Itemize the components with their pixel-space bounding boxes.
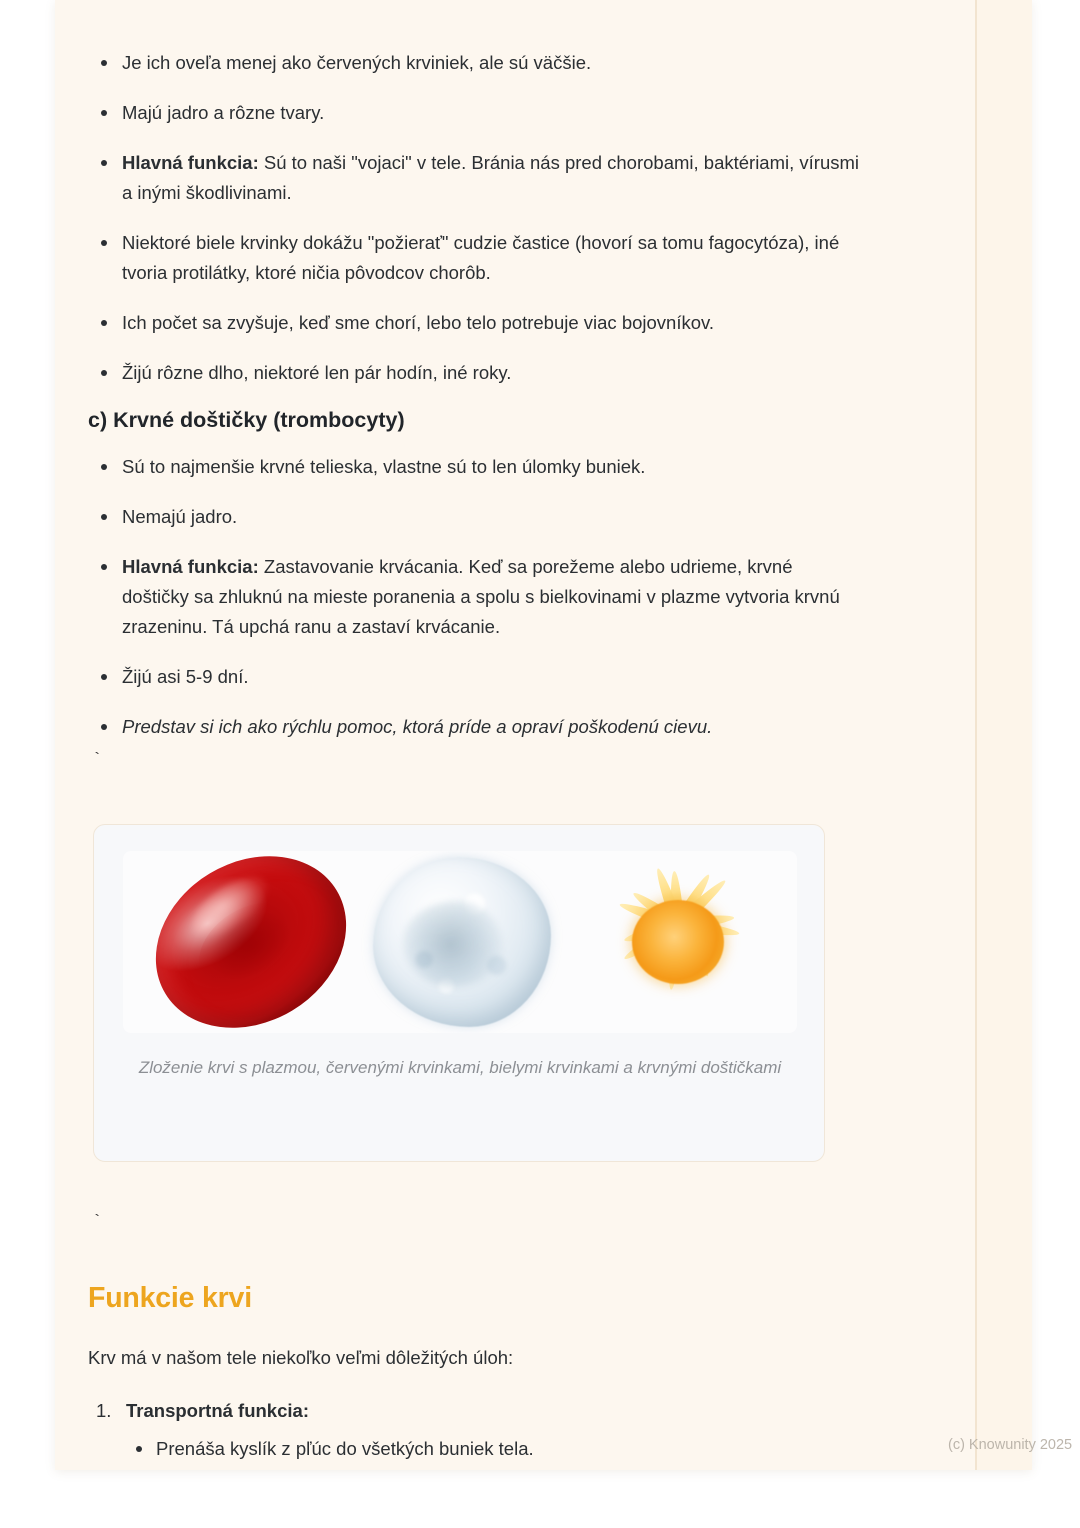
list-item-text: Žijú rôzne dlho, niektoré len pár hodín,… bbox=[122, 362, 511, 383]
document-content-column: Je ich oveľa menej ako červených krvinie… bbox=[88, 0, 938, 1470]
platelets-section-heading: c) Krvné doštičky (trombocyty) bbox=[88, 405, 938, 435]
list-item-text: Ich počet sa zvyšuje, keď sme chorí, leb… bbox=[122, 312, 714, 333]
list-item: Je ich oveľa menej ako červených krvinie… bbox=[88, 48, 862, 78]
list-item: Hlavná funkcia: Zastavovanie krvácania. … bbox=[88, 552, 862, 642]
stray-backtick-mark-top: ` bbox=[92, 752, 942, 769]
functions-section-intro: Krv má v našom tele niekoľko veľmi dôlež… bbox=[88, 1343, 938, 1373]
list-item: Žijú rôzne dlho, niektoré len pár hodín,… bbox=[88, 358, 862, 388]
list-item-bold-lead: Hlavná funkcia: bbox=[122, 152, 259, 173]
list-item: Ich počet sa zvyšuje, keď sme chorí, leb… bbox=[88, 308, 862, 338]
platelets-bullet-list: Sú to najmenšie krvné telieska, vlastne … bbox=[88, 452, 938, 762]
numbered-list-item: Transportná funkcia: Prenáša kyslík z pľ… bbox=[88, 1396, 938, 1464]
platelet-core bbox=[632, 900, 724, 984]
functions-section-heading: Funkcie krvi bbox=[88, 1280, 938, 1317]
stray-backtick-mark-bottom: ` bbox=[92, 1214, 942, 1231]
white-blood-cells-bullet-list: Je ich oveľa menej ako červených krvinie… bbox=[88, 48, 938, 408]
list-item: Majú jadro a rôzne tvary. bbox=[88, 98, 862, 128]
list-item: Žijú asi 5-9 dní. bbox=[88, 662, 862, 692]
platelet-icon bbox=[583, 857, 773, 1027]
page-margin-divider-line bbox=[975, 0, 977, 1470]
white-blood-cell-nucleus bbox=[403, 901, 503, 987]
page-right-margin-strip bbox=[975, 0, 1032, 1470]
list-item-bold-lead: Hlavná funkcia: bbox=[122, 556, 259, 577]
functions-numbered-list: Transportná funkcia: Prenáša kyslík z pľ… bbox=[88, 1396, 938, 1464]
list-item: Sú to najmenšie krvné telieska, vlastne … bbox=[88, 452, 862, 482]
document-page: Je ich oveľa menej ako červených krvinie… bbox=[55, 0, 1032, 1470]
list-item-text: Sú to najmenšie krvné telieska, vlastne … bbox=[122, 456, 645, 477]
blood-cells-image bbox=[123, 851, 797, 1033]
bullet-list: Sú to najmenšie krvné telieska, vlastne … bbox=[88, 452, 938, 742]
numbered-item-title: Transportná funkcia: bbox=[126, 1400, 309, 1421]
blood-cells-figure-card: Zloženie krvi s plazmou, červenými krvin… bbox=[93, 824, 825, 1162]
copyright-watermark: (c) Knowunity 2025 bbox=[948, 1437, 1072, 1453]
figure-caption: Zloženie krvi s plazmou, červenými krvin… bbox=[138, 1055, 782, 1081]
numbered-list: Transportná funkcia: Prenáša kyslík z pľ… bbox=[88, 1396, 938, 1464]
list-item: Prenáša kyslík z pľúc do všetkých buniek… bbox=[126, 1434, 938, 1464]
list-item-text: Je ich oveľa menej ako červených krvinie… bbox=[122, 52, 591, 73]
list-item-text: Predstav si ich ako rýchlu pomoc, ktorá … bbox=[122, 716, 712, 737]
white-blood-cell-icon bbox=[373, 857, 551, 1027]
list-item: Nemajú jadro. bbox=[88, 502, 862, 532]
list-item-text: Majú jadro a rôzne tvary. bbox=[122, 102, 324, 123]
list-item-text: Prenáša kyslík z pľúc do všetkých buniek… bbox=[156, 1438, 534, 1459]
list-item-text: Niektoré biele krvinky dokážu "požierať"… bbox=[122, 232, 839, 283]
list-item: Hlavná funkcia: Sú to naši "vojaci" v te… bbox=[88, 148, 862, 208]
bullet-list: Je ich oveľa menej ako červených krvinie… bbox=[88, 48, 938, 388]
red-blood-cell-icon bbox=[151, 862, 351, 1022]
list-item-text: Nemajú jadro. bbox=[122, 506, 237, 527]
list-item-text: Žijú asi 5-9 dní. bbox=[122, 666, 248, 687]
list-item: Predstav si ich ako rýchlu pomoc, ktorá … bbox=[88, 712, 862, 742]
list-item: Niektoré biele krvinky dokážu "požierať"… bbox=[88, 228, 862, 288]
numbered-item-subitems: Prenáša kyslík z pľúc do všetkých buniek… bbox=[126, 1434, 938, 1464]
